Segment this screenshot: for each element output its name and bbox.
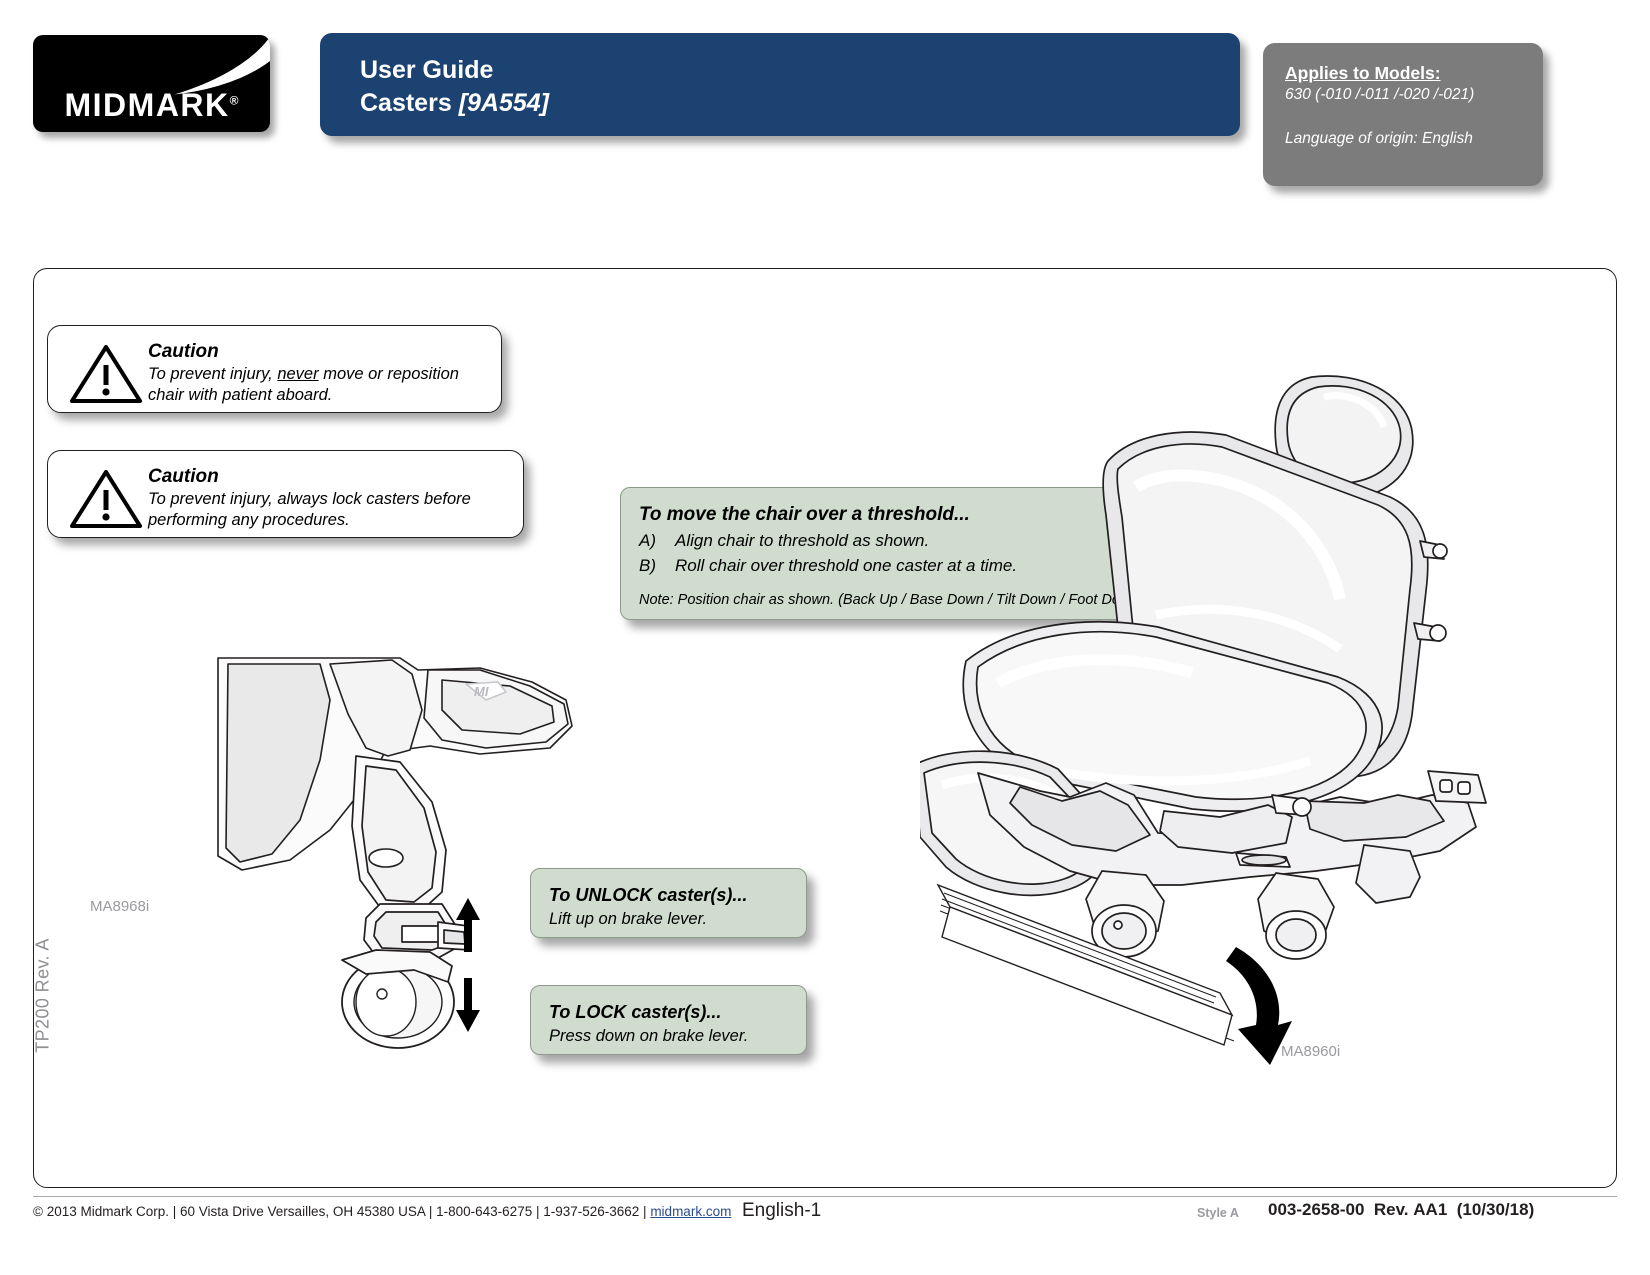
document-title-bar: User Guide Casters [9A554]	[320, 33, 1240, 136]
side-marking: TP200 Rev. A	[33, 921, 54, 1071]
illustration-label-right: MA8960i	[1281, 1043, 1340, 1060]
caution-box-1: Caution To prevent injury, never move or…	[47, 325, 502, 413]
brake-lever-direction-arrows-icon	[448, 890, 490, 1040]
caution-body: To prevent injury, always lock casters b…	[148, 489, 511, 531]
midmark-logo: MIDMARK®	[33, 35, 270, 132]
document-code: [9A554]	[459, 89, 549, 117]
caution-box-2: Caution To prevent injury, always lock c…	[47, 450, 524, 538]
caution-title: Caution	[148, 465, 511, 489]
footer-company-info: © 2013 Midmark Corp. | 60 Vista Drive Ve…	[33, 1204, 731, 1219]
chair-brand-mark: MI	[474, 684, 489, 699]
illustration-label-left: MA8968i	[90, 898, 149, 915]
page-subtitle: Casters [9A554]	[360, 87, 1240, 120]
logo-wordmark: MIDMARK®	[33, 87, 270, 124]
registered-trademark-icon: ®	[230, 93, 239, 107]
document-page: MIDMARK® User Guide Casters [9A554] Appl…	[0, 0, 1650, 1275]
models-list: 630 (-010 /-011 /-020 /-021)	[1285, 84, 1543, 106]
caution-text-1: Caution To prevent injury, never move or…	[148, 339, 489, 406]
page-title: User Guide	[360, 54, 1240, 87]
footer-divider	[33, 1196, 1617, 1197]
chair-threshold-illustration	[920, 365, 1560, 1065]
caster-illustration: MI	[180, 630, 610, 1070]
part-number-revision: 003-2658-00 Rev. AA1 (10/30/18)	[1268, 1200, 1534, 1220]
style-label: Style A	[1197, 1206, 1239, 1220]
caution-text-2: Caution To prevent injury, always lock c…	[148, 464, 511, 531]
caution-body: To prevent injury, never move or reposit…	[148, 364, 489, 406]
applies-to-models-box: Applies to Models: 630 (-010 /-011 /-020…	[1263, 43, 1543, 186]
step-text: Align chair to threshold as shown.	[675, 528, 929, 553]
step-label: A)	[639, 528, 675, 553]
caution-title: Caution	[148, 340, 489, 364]
step-label: B)	[639, 553, 675, 578]
warning-triangle-icon	[64, 464, 148, 530]
page-number-label: English-1	[742, 1200, 821, 1222]
models-heading: Applies to Models:	[1285, 62, 1543, 84]
warning-triangle-icon	[64, 339, 148, 405]
midmark-website-link[interactable]: midmark.com	[650, 1204, 731, 1219]
language-of-origin: Language of origin: English	[1285, 130, 1543, 148]
